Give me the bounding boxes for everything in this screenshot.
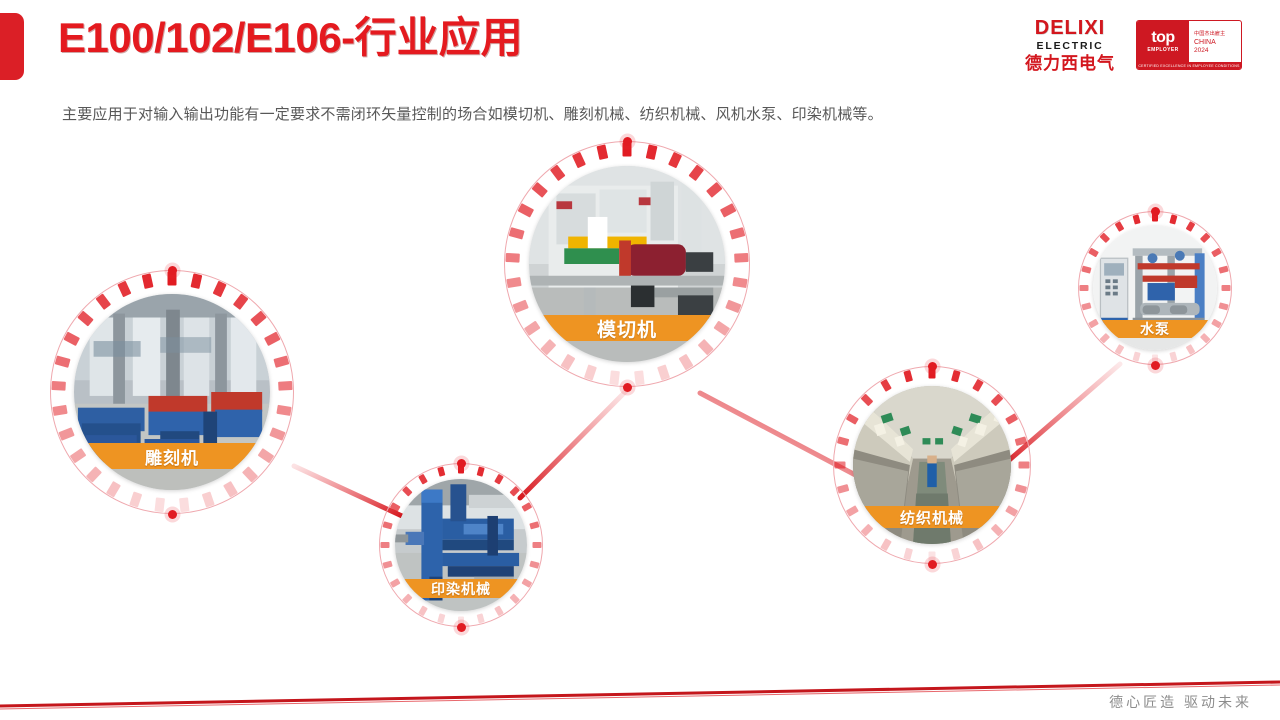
footer-slogan: 德心匠造 驱动未来	[1109, 692, 1252, 712]
node-anchor-dot-bottom	[168, 510, 177, 519]
slide-root: E100/102/E106-行业应用 主要应用于对输入输出功能有一定要求不需闭环…	[0, 0, 1280, 720]
node-label: 雕刻机	[74, 443, 270, 469]
node-anchor-dot	[623, 137, 632, 146]
footer-divider	[0, 660, 1280, 720]
node-photo: 印染机械	[395, 479, 527, 611]
node-anchor-dot	[457, 459, 466, 468]
top-employer-details: 中国杰出雇主 CHINA 2024	[1189, 21, 1241, 62]
top-employer-mark: top EMPLOYER	[1137, 21, 1189, 62]
node-photo: 水泵	[1093, 226, 1217, 350]
node-photo: 纺织机械	[853, 386, 1011, 544]
left-accent-tab	[0, 13, 24, 80]
top-employer-badge: top EMPLOYER 中国杰出雇主 CHINA 2024 CERTIFIED…	[1136, 20, 1242, 70]
page-title-model: E100/102/E106	[58, 14, 341, 61]
page-title: E100/102/E106-行业应用	[58, 17, 523, 59]
delixi-chinese-name: 德力西电气	[1010, 55, 1130, 72]
node-label: 印染机械	[395, 579, 527, 598]
top-employer-top-word: top	[1151, 30, 1174, 45]
node-photo: 模切机	[529, 166, 725, 362]
node-anchor-dot-bottom	[457, 623, 466, 632]
node-anchor-dot-bottom	[623, 383, 632, 392]
node-label: 纺织机械	[853, 506, 1011, 528]
delixi-wordmark: DELIXI	[1010, 18, 1130, 38]
page-subtitle: 主要应用于对输入输出功能有一定要求不需闭环矢量控制的场合如模切机、雕刻机械、纺织…	[62, 103, 883, 124]
application-node-printdye[interactable]: 印染机械	[379, 463, 543, 627]
page-title-cn: 行业应用	[355, 14, 523, 61]
node-label-text: 水泵	[1140, 319, 1170, 339]
node-anchor-dot	[1151, 207, 1160, 216]
application-diagram: 雕刻机 模切机	[0, 128, 1280, 668]
node-anchor-dot-bottom	[928, 560, 937, 569]
application-node-textile[interactable]: 纺织机械	[833, 366, 1031, 564]
application-node-diecutting[interactable]: 模切机	[504, 141, 750, 387]
top-employer-cn-line: 中国杰出雇主	[1194, 31, 1241, 38]
application-node-engraving[interactable]: 雕刻机	[50, 270, 294, 514]
top-employer-employer-word: EMPLOYER	[1147, 47, 1178, 53]
node-label-text: 模切机	[597, 315, 657, 342]
top-employer-country: CHINA	[1194, 38, 1241, 47]
top-employer-badge-main: top EMPLOYER 中国杰出雇主 CHINA 2024	[1137, 21, 1241, 62]
node-label: 模切机	[529, 315, 725, 341]
node-photo: 雕刻机	[74, 294, 270, 490]
node-anchor-dot	[928, 362, 937, 371]
node-anchor-dot	[168, 266, 177, 275]
delixi-subtitle: ELECTRIC	[1010, 41, 1130, 52]
top-employer-year: 2024	[1194, 47, 1241, 55]
node-label-text: 雕刻机	[145, 444, 199, 469]
delixi-logo: DELIXI ELECTRIC 德力西电气	[1010, 18, 1130, 72]
node-anchor-dot-bottom	[1151, 361, 1160, 370]
node-label: 水泵	[1093, 320, 1217, 338]
application-node-waterpump[interactable]: 水泵	[1078, 211, 1232, 365]
node-label-text: 印染机械	[431, 579, 491, 599]
node-label-text: 纺织机械	[900, 507, 964, 528]
page-title-separator: -	[341, 14, 355, 61]
top-employer-strip: CERTIFIED EXCELLENCE IN EMPLOYEE CONDITI…	[1137, 62, 1241, 69]
